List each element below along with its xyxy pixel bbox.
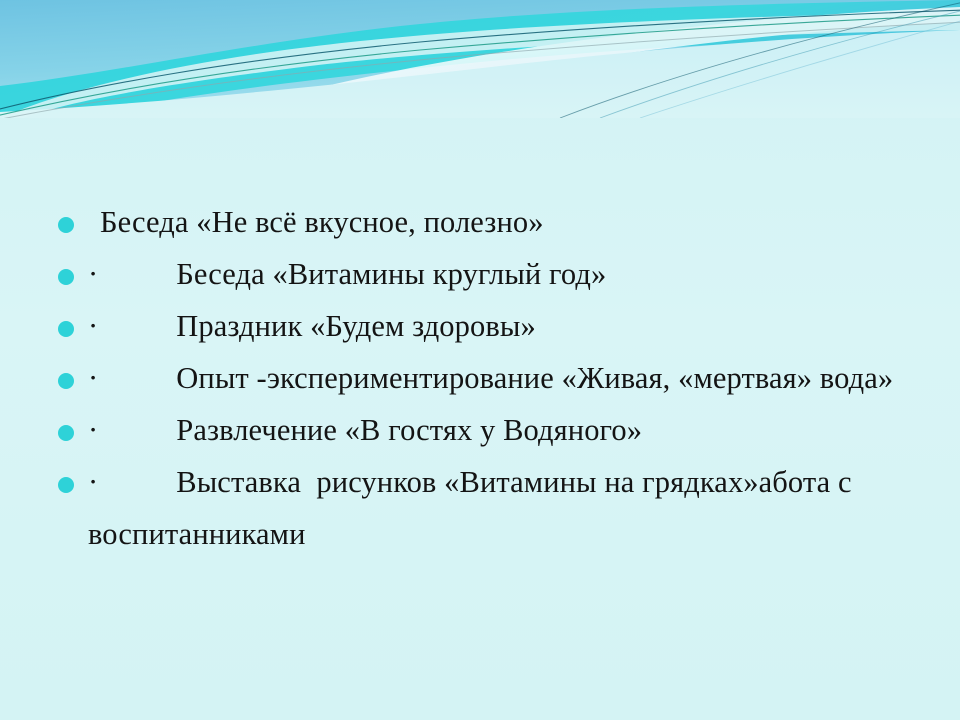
list-item: ·Беседа «Витамины круглый год» [0, 248, 960, 300]
list-item-middot: · [88, 465, 98, 499]
bullet-dot-icon [58, 217, 74, 233]
bullet-dot-icon [58, 425, 74, 441]
list-item: ·Развлечение «В гостях у Водяного» [0, 404, 960, 456]
presentation-slide: Беседа «Не всё вкусное, полезно» ·Беседа… [0, 0, 960, 720]
list-item-text: ·Беседа «Витамины круглый год» [63, 248, 960, 300]
bullet-dot-icon [58, 269, 74, 285]
slide-body-content: Беседа «Не всё вкусное, полезно» ·Беседа… [0, 196, 960, 560]
list-item-text: ·Опыт -экспериментирование «Живая, «мерт… [63, 352, 960, 404]
list-item-label: Выставка рисунков «Витамины на грядках»а… [88, 465, 859, 551]
list-item: ·Выставка рисунков «Витамины на грядках»… [0, 456, 960, 560]
bullet-dot-icon [58, 477, 74, 493]
list-item-text: Беседа «Не всё вкусное, полезно» [63, 196, 960, 248]
list-item-middot: · [88, 257, 98, 291]
list-item-middot: · [88, 361, 98, 395]
list-item: ·Праздник «Будем здоровы» [0, 300, 960, 352]
list-item-middot: · [88, 309, 98, 343]
list-item: Беседа «Не всё вкусное, полезно» [0, 196, 960, 248]
list-item-label: Беседа «Витамины круглый год» [176, 257, 606, 291]
list-item-text: ·Праздник «Будем здоровы» [63, 300, 960, 352]
list-item-text: ·Развлечение «В гостях у Водяного» [63, 404, 960, 456]
list-item-text: ·Выставка рисунков «Витамины на грядках»… [63, 456, 960, 560]
wave-banner-decoration [0, 0, 960, 118]
list-item-label: Праздник «Будем здоровы» [176, 309, 536, 343]
list-item: ·Опыт -экспериментирование «Живая, «мерт… [0, 352, 960, 404]
list-item-label: Развлечение «В гостях у Водяного» [176, 413, 642, 447]
bullet-dot-icon [58, 373, 74, 389]
list-item-label: Опыт -экспериментирование «Живая, «мертв… [176, 361, 893, 395]
list-item-middot: · [88, 413, 98, 447]
bullet-dot-icon [58, 321, 74, 337]
